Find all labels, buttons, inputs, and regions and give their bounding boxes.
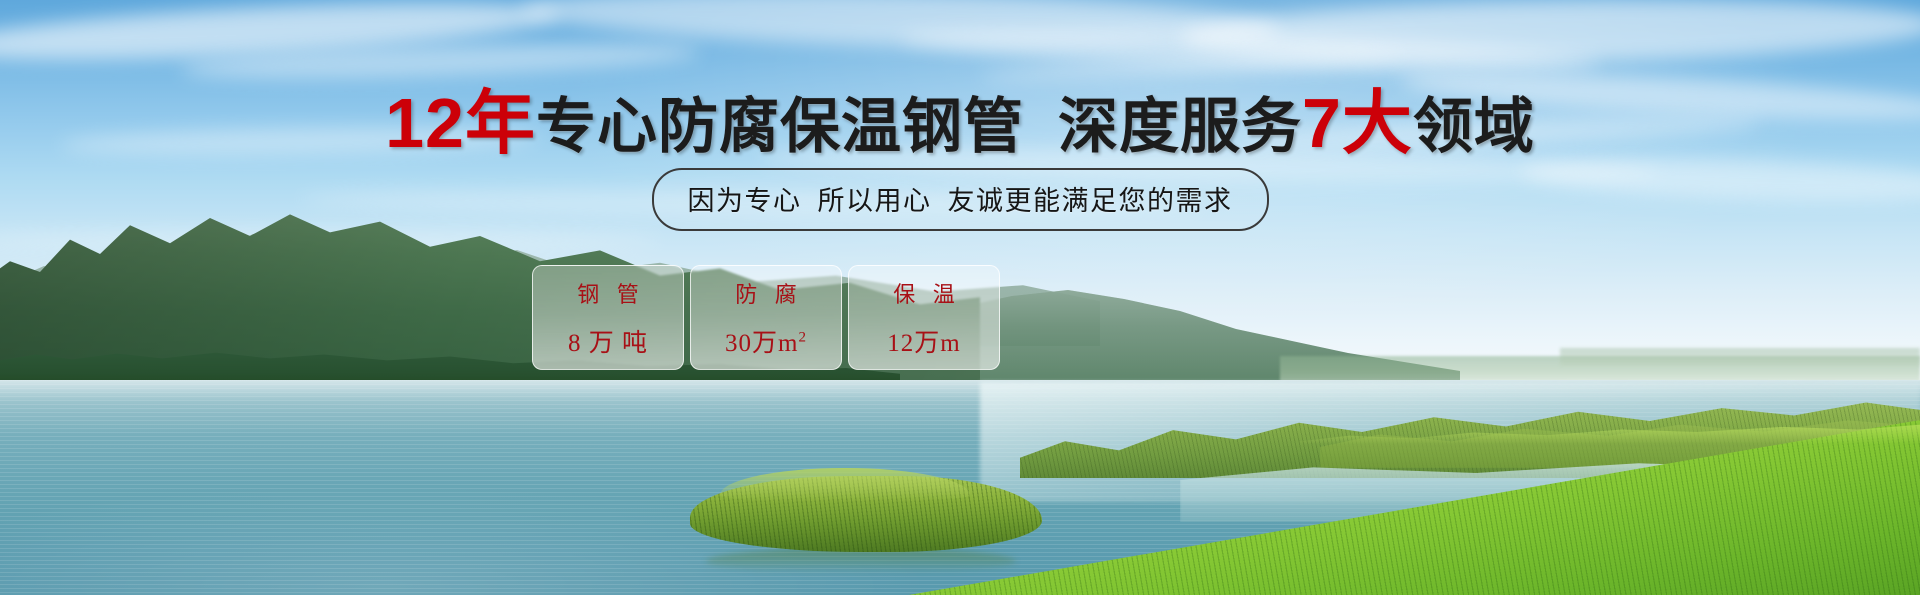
headline-years-unit: 年 bbox=[465, 84, 536, 162]
subtitle-segment-two: 所以用心 bbox=[818, 186, 932, 216]
stat-card-value-text: 12万m bbox=[887, 330, 960, 357]
island-highlight bbox=[720, 468, 970, 502]
subtitle-segment-three: 友诚更能满足您的需求 bbox=[948, 186, 1233, 216]
far-shoreline-secondary bbox=[1560, 348, 1920, 366]
stat-card-value-sup: 2 bbox=[798, 329, 807, 345]
stat-card-anticorrosion: 防 腐 30万m2 bbox=[690, 265, 842, 370]
headline-seven: 7大 bbox=[1302, 84, 1413, 162]
banner-subtitle-pill: 因为专心所以用心友诚更能满足您的需求 bbox=[652, 168, 1269, 231]
banner-headline: 12年专心防腐保温钢管深度服务7大领域 bbox=[0, 88, 1920, 158]
stat-card-value: 8 万 吨 bbox=[568, 323, 648, 359]
stat-card-value: 30万m2 bbox=[725, 323, 807, 359]
stat-card-label: 防 腐 bbox=[729, 277, 803, 309]
stat-card-label: 钢 管 bbox=[571, 277, 645, 309]
stat-cards: 钢 管 8 万 吨 防 腐 30万m2 保 温 12万m bbox=[532, 265, 1000, 370]
stat-card-label: 保 温 bbox=[887, 277, 961, 309]
stat-card-value: 12万m bbox=[887, 323, 960, 359]
stat-card-steel-pipe: 钢 管 8 万 吨 bbox=[532, 265, 684, 370]
headline-part-one: 专心防腐保温钢管 bbox=[536, 93, 1024, 160]
headline-part-two: 深度服务 bbox=[1058, 93, 1302, 160]
subtitle-segment-one: 因为专心 bbox=[688, 186, 802, 216]
headline-part-three: 领域 bbox=[1413, 93, 1535, 160]
stat-card-value-text: 30万m bbox=[725, 330, 798, 357]
grass-island bbox=[690, 468, 1050, 560]
headline-years-number: 12 bbox=[385, 84, 465, 162]
stat-card-value-text: 8 万 吨 bbox=[568, 330, 648, 357]
promo-banner: 12年专心防腐保温钢管深度服务7大领域 因为专心所以用心友诚更能满足您的需求 钢… bbox=[0, 0, 1920, 595]
banner-subtitle-wrapper: 因为专心所以用心友诚更能满足您的需求 bbox=[0, 168, 1920, 231]
stat-card-insulation: 保 温 12万m bbox=[848, 265, 1000, 370]
